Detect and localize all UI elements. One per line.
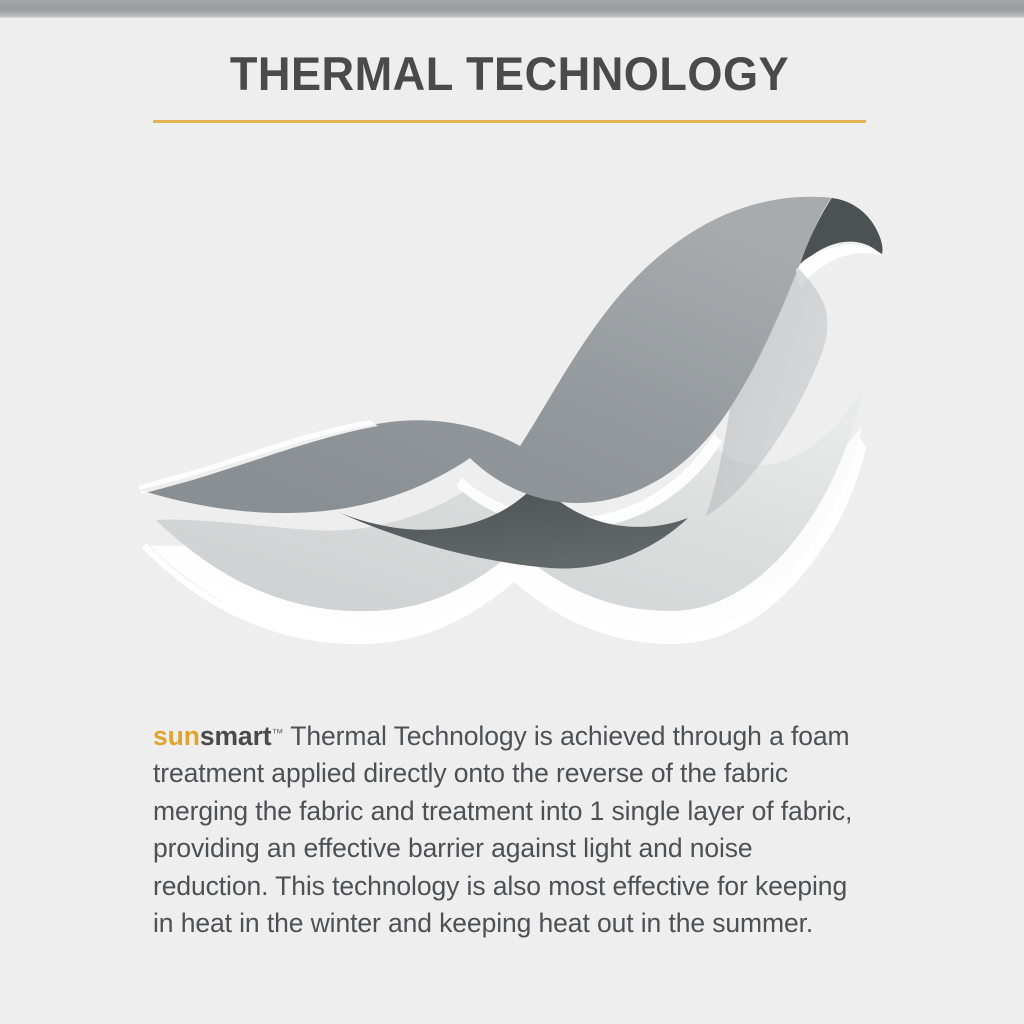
trademark-symbol: ™ xyxy=(272,726,284,740)
page-title: THERMAL TECHNOLOGY xyxy=(167,46,851,102)
header: THERMAL TECHNOLOGY xyxy=(153,46,866,102)
body-paragraph-text: Thermal Technology is achieved through a… xyxy=(153,721,852,939)
top-chrome-bar xyxy=(0,0,1024,18)
top-chrome-bar-shadow xyxy=(0,18,1024,21)
brand-smart-text: smart xyxy=(200,721,272,751)
brand-sun-text: sun xyxy=(153,721,200,751)
thermal-fabric-layers-illustration xyxy=(132,186,892,656)
title-divider-rule xyxy=(153,120,866,123)
body-paragraph: sunsmart™ Thermal Technology is achieved… xyxy=(153,715,868,944)
page-root: THERMAL TECHNOLOGY xyxy=(0,0,1024,1024)
